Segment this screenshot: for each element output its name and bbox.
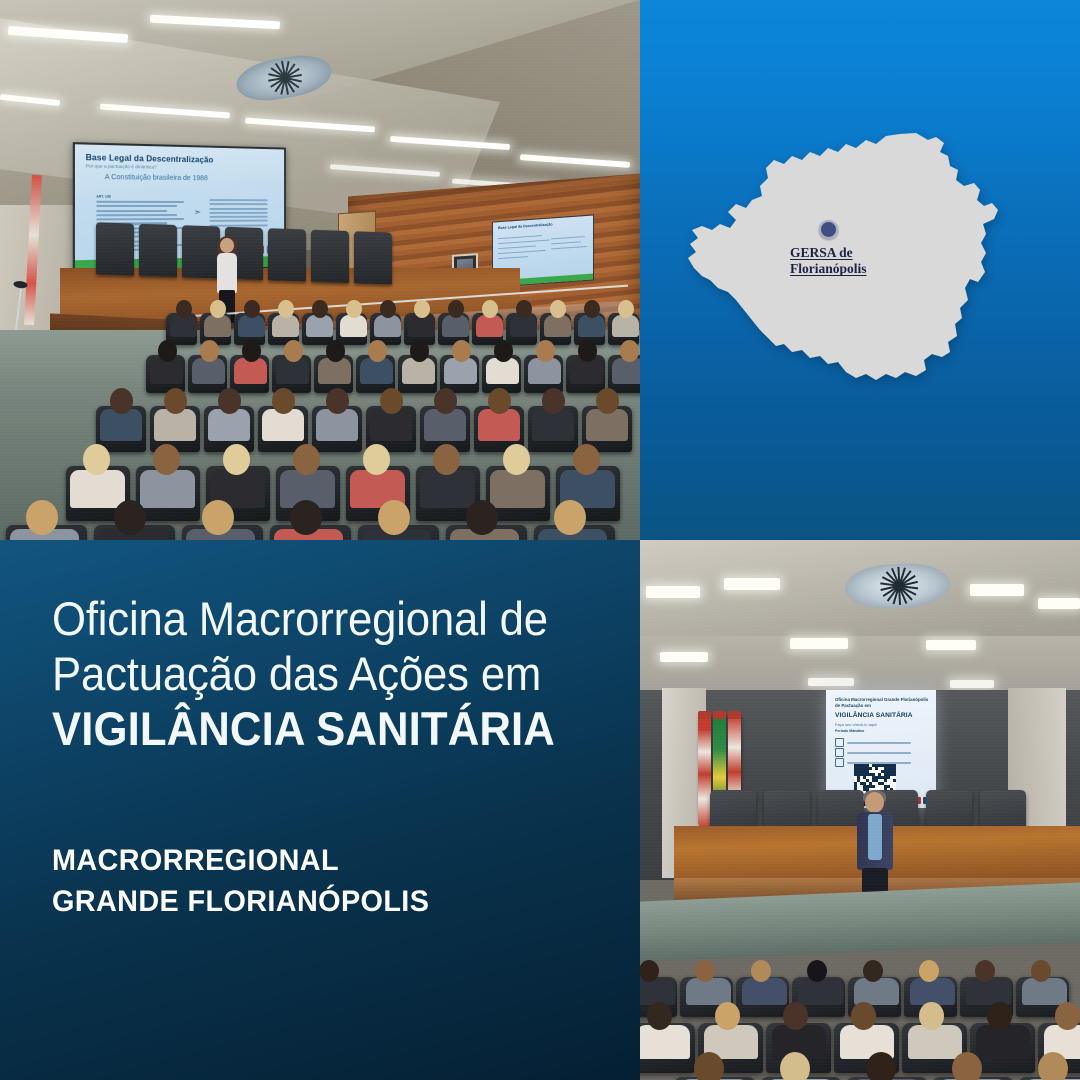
audience-member <box>798 960 843 1000</box>
slide-side-text <box>209 199 267 229</box>
audience-member <box>374 300 401 334</box>
subtitle-line-2: GRANDE FLORIANÓPOLIS <box>52 885 429 918</box>
audience-member <box>544 300 571 334</box>
photo-auditorium-wide: Base Legal da Descentralização Base Lega… <box>0 0 640 540</box>
audience-member <box>442 300 469 334</box>
audience-member <box>140 444 196 502</box>
page-title: Oficina Macrorregional de Pactuação das … <box>52 592 573 757</box>
audience-member <box>70 444 126 502</box>
audience-member <box>852 1052 921 1080</box>
projection-line-3: VIGILÂNCIA SANITÁRIA <box>835 712 913 719</box>
audience-member <box>532 388 575 436</box>
audience-member <box>208 388 251 436</box>
headline-line-2: Pactuação das Ações em <box>52 647 541 700</box>
projection-line-5: Período Matutino <box>835 729 864 733</box>
audience-member <box>262 388 305 436</box>
photo-auditorium-speaker: Oficina Macrorregional Grande Florianópo… <box>640 540 1080 1080</box>
projection-line-4: Faça seu check-in aqui! <box>835 722 877 727</box>
map-region-label: GERSA de Florianópolis <box>790 245 950 278</box>
stage-chair-row <box>96 222 426 294</box>
ceiling-light <box>926 640 976 650</box>
stage-chair <box>311 230 349 283</box>
photo-top-left-scene: Base Legal da Descentralização Base Lega… <box>0 0 640 540</box>
audience-member <box>612 340 640 380</box>
audience-member <box>704 1002 758 1052</box>
audience-member <box>280 444 336 502</box>
audience-member <box>908 1002 962 1052</box>
poster-canvas: Base Legal da Descentralização Base Lega… <box>0 0 1080 1080</box>
map-label-line2: Florianópolis <box>790 261 867 276</box>
audience-member <box>210 444 266 502</box>
form-icon <box>835 758 844 767</box>
secondary-slide-title: Base Legal da Descentralização <box>498 222 553 230</box>
audience-member <box>444 340 478 380</box>
audience-member <box>402 340 436 380</box>
audience-member <box>1024 1052 1080 1080</box>
audience-member <box>192 340 226 380</box>
audience-member <box>686 960 731 1000</box>
audience-member <box>370 388 413 436</box>
audience-member <box>854 960 899 1000</box>
stage-chair <box>139 224 177 277</box>
audience-member <box>360 340 394 380</box>
audience-member <box>350 444 406 502</box>
audience-member <box>772 1002 826 1052</box>
audience-member <box>560 444 616 502</box>
audience-member <box>10 500 80 540</box>
slide-article: ART. 198 <box>96 195 110 199</box>
page-subtitle: MACRORREGIONAL GRANDE FLORIANÓPOLIS <box>52 840 590 923</box>
audience-member <box>538 500 608 540</box>
photo-bottom-right-scene: Oficina Macrorregional Grande Florianópo… <box>640 540 1080 1080</box>
audience-member <box>318 340 352 380</box>
audience-member <box>910 960 955 1000</box>
audience-member <box>450 500 520 540</box>
slide-heading: A Constituição brasileira de 1988 <box>105 174 234 184</box>
ceiling-light <box>790 638 848 649</box>
ceiling-light <box>1038 598 1080 609</box>
audience-member <box>154 388 197 436</box>
audience-member <box>766 1052 835 1080</box>
subtitle-line-1: MACRORREGIONAL <box>52 844 339 877</box>
ceiling-light <box>950 680 994 688</box>
headline-line-1: Oficina Macrorregional de <box>52 592 548 645</box>
projection-line-1: Oficina Macrorregional Grande Florianópo… <box>835 697 929 709</box>
audience-member <box>528 340 562 380</box>
audience-member <box>640 960 675 1000</box>
stage-chair <box>354 231 392 284</box>
stage-chair <box>268 228 306 281</box>
audience-member <box>976 1002 1030 1052</box>
audience-member <box>272 300 299 334</box>
audience-member <box>170 300 197 334</box>
audience-member <box>238 300 265 334</box>
audience-member <box>680 1052 749 1080</box>
audience-member <box>578 300 605 334</box>
slide-subtitle: Por que a pactuação é dinâmica? <box>86 163 157 169</box>
form-icon <box>835 748 844 757</box>
audience-member <box>186 500 256 540</box>
audience-member <box>424 388 467 436</box>
audience-member <box>490 444 546 502</box>
map-label-line1: GERSA de <box>790 245 853 260</box>
ceiling-light <box>808 678 854 686</box>
audience-member <box>486 340 520 380</box>
stage-chair <box>96 222 134 275</box>
audience-member <box>586 388 629 436</box>
audience-member <box>100 388 143 436</box>
audience-member <box>340 300 367 334</box>
audience-member <box>362 500 432 540</box>
audience-seating <box>640 940 1080 1080</box>
ceiling-light <box>646 586 700 598</box>
audience-member <box>476 300 503 334</box>
audience-member <box>204 300 231 334</box>
ceiling-light <box>660 652 708 662</box>
audience-member <box>640 1002 690 1052</box>
map-panel: GERSA de Florianópolis <box>640 0 1080 540</box>
audience-member <box>150 340 184 380</box>
audience-member <box>612 300 639 334</box>
headline-line-3: VIGILÂNCIA SANITÁRIA <box>52 702 573 757</box>
audience-member <box>306 300 333 334</box>
location-dot-icon <box>819 220 838 239</box>
audience-member <box>840 1002 894 1052</box>
ceiling-light <box>724 578 780 590</box>
audience-member <box>98 500 168 540</box>
audience-member <box>510 300 537 334</box>
proj-l1: Oficina Macrorregional Grande <box>835 697 899 702</box>
audience-member <box>966 960 1011 1000</box>
ceiling-light <box>970 584 1024 596</box>
audience-member <box>742 960 787 1000</box>
audience-member <box>276 340 310 380</box>
title-panel: Oficina Macrorregional de Pactuação das … <box>0 540 640 1080</box>
arrow-icon: ➣ <box>194 207 201 218</box>
audience-member <box>1044 1002 1080 1052</box>
audience-member <box>408 300 435 334</box>
audience-member <box>938 1052 1007 1080</box>
audience-member <box>478 388 521 436</box>
audience-member <box>1022 960 1067 1000</box>
audience-member <box>316 388 359 436</box>
audience-member <box>234 340 268 380</box>
audience-member <box>570 340 604 380</box>
audience-member <box>420 444 476 502</box>
audience-member <box>274 500 344 540</box>
form-icon <box>835 738 844 747</box>
